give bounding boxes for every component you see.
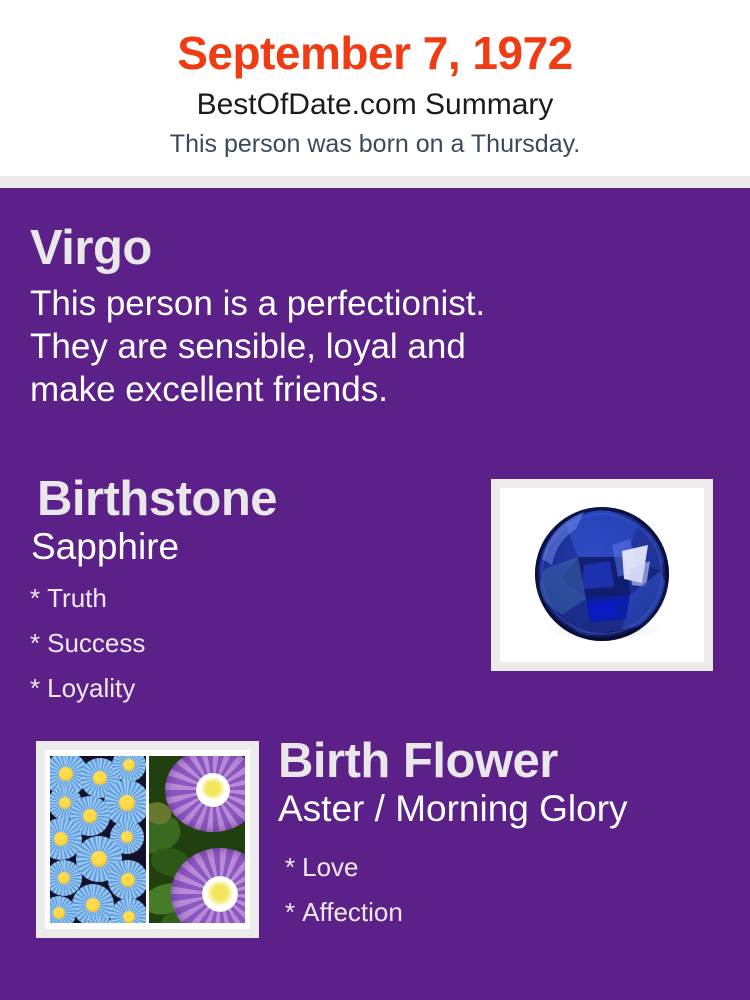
page-title: September 7, 1972: [0, 26, 750, 80]
details-panel: Virgo This person is a perfectionist. Th…: [0, 188, 750, 1000]
trait-label: Affection: [302, 897, 403, 927]
trait-label: Success: [47, 628, 145, 658]
birthstone-name: Sapphire: [30, 525, 480, 569]
bullet-asterisk: *: [285, 852, 295, 882]
list-item: *Truth: [30, 576, 480, 621]
header-divider: [0, 176, 750, 188]
aster-photo-half: [50, 756, 146, 923]
zodiac-description-line-1: This person is a perfectionist.: [30, 282, 690, 325]
sapphire-gem-photo: [500, 488, 704, 662]
bullet-asterisk: *: [285, 897, 295, 927]
morning-glory-photo-half: [149, 756, 245, 923]
aster-morning-glory-photo: [45, 750, 250, 929]
bullet-asterisk: *: [30, 673, 40, 703]
birth-flower-name: Aster / Morning Glory: [278, 787, 738, 831]
trait-label: Truth: [47, 583, 107, 613]
list-item: *Love: [285, 845, 738, 890]
summary-card: September 7, 1972 BestOfDate.com Summary…: [0, 0, 750, 1000]
birth-flower-trait-list: *Love *Affection: [278, 845, 738, 935]
list-item: *Success: [30, 621, 480, 666]
zodiac-sign-title: Virgo: [30, 220, 690, 276]
list-item: *Affection: [285, 890, 738, 935]
trait-label: Love: [302, 852, 358, 882]
zodiac-description-line-3: make excellent friends.: [30, 368, 690, 411]
zodiac-description: This person is a perfectionist. They are…: [30, 282, 690, 411]
birth-flower-heading: Birth Flower: [278, 733, 738, 789]
birth-flower-image-frame: [36, 741, 259, 938]
trait-label: Loyality: [47, 673, 135, 703]
card-header: September 7, 1972 BestOfDate.com Summary…: [0, 0, 750, 176]
site-subtitle: BestOfDate.com Summary: [0, 87, 750, 123]
birthstone-trait-list: *Truth *Success *Loyality: [30, 576, 480, 711]
birthstone-image-frame: [491, 479, 713, 671]
list-item: *Loyality: [30, 666, 480, 711]
bullet-asterisk: *: [30, 583, 40, 613]
birth-flower-section: Birth Flower Aster / Morning Glory *Love…: [278, 733, 738, 935]
zodiac-description-line-2: They are sensible, loyal and: [30, 325, 690, 368]
zodiac-section: Virgo This person is a perfectionist. Th…: [30, 220, 690, 411]
bullet-asterisk: *: [30, 628, 40, 658]
birthstone-heading: Birthstone: [30, 471, 480, 527]
sapphire-gem-icon: [526, 499, 678, 651]
born-weekday-line: This person was born on a Thursday.: [0, 128, 750, 160]
birthstone-section: Birthstone Sapphire *Truth *Success *Loy…: [30, 471, 480, 711]
